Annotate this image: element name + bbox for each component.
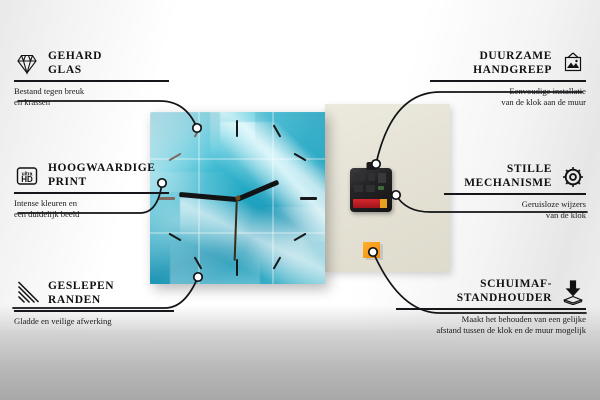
feature-title-line1: DUURZAME <box>479 50 552 62</box>
feature-desc-line2: afstand tussen de klok en de muur mogeli… <box>436 325 586 335</box>
feature-desc-line1: Gladde en veilige afwerking <box>14 316 112 326</box>
feature-title-line2: GLAS <box>48 64 82 76</box>
feature-duurzame-handgreep[interactable]: DUURZAME HANDGREEP Eenvoudige installati… <box>430 50 586 108</box>
feature-hoogwaardige-print[interactable]: ultra HD HOOGWAARDIGE PRINT Intense kleu… <box>14 162 169 220</box>
glass-wall-clock <box>150 112 325 284</box>
down-arrow-pad-icon <box>560 279 586 305</box>
feature-title-line2: RANDEN <box>48 294 101 306</box>
feature-title-line2: STANDHOUDER <box>457 292 552 304</box>
feature-geslepen-randen[interactable]: GESLEPEN RANDEN Gladde en veilige afwerk… <box>14 280 174 327</box>
feature-gehard-glas[interactable]: GEHARD GLAS Bestand tegen breuk en krass… <box>14 50 169 108</box>
feature-divider <box>14 80 169 82</box>
feature-desc-line2: van de klok <box>546 210 586 220</box>
feature-desc-line1: Intense kleuren en <box>14 198 77 208</box>
feature-desc-line1: Maakt het behouden van een gelijke <box>462 314 586 324</box>
feature-desc-line1: Bestand tegen breuk <box>14 86 84 96</box>
feature-title-line1: HOOGWAARDIGE <box>48 162 156 174</box>
feature-divider <box>396 308 586 310</box>
ultra-hd-icon: ultra HD <box>14 163 40 189</box>
svg-text:HD: HD <box>21 175 33 184</box>
clock-tick <box>300 197 317 200</box>
bevelled-edge-icon <box>14 281 40 307</box>
feature-title-line2: PRINT <box>48 176 87 188</box>
feature-desc-line2: van de klok aan de muur <box>501 97 586 107</box>
clock-hub <box>235 196 240 201</box>
clock-mechanism <box>350 168 392 212</box>
feature-divider <box>444 193 586 195</box>
feature-schuimafstandhouder[interactable]: SCHUIMAF- STANDHOUDER Maakt het behouden… <box>396 278 586 336</box>
battery <box>353 199 387 208</box>
clock-tick <box>236 259 238 276</box>
gear-icon <box>560 164 586 190</box>
product-infographic: GEHARD GLAS Bestand tegen breuk en krass… <box>0 0 600 400</box>
feature-title-line1: GESLEPEN <box>48 280 114 292</box>
foam-spacer <box>363 242 380 258</box>
clock-tick <box>236 120 238 137</box>
feature-divider <box>14 192 169 194</box>
feature-title-line2: HANDGREEP <box>473 64 552 76</box>
feature-title-line1: GEHARD <box>48 50 102 62</box>
diamond-icon <box>14 51 40 77</box>
feature-desc-line2: een duidelijk beeld <box>14 209 79 219</box>
feature-stille-mechanisme[interactable]: STILLE MECHANISME Geruisloze wijzers van… <box>444 163 586 221</box>
feature-desc-line1: Geruisloze wijzers <box>522 199 586 209</box>
feature-title-line1: SCHUIMAF- <box>480 278 552 290</box>
feature-title-line1: STILLE <box>507 163 552 175</box>
feature-divider <box>14 310 174 312</box>
feature-divider <box>430 80 586 82</box>
hanging-picture-icon <box>560 51 586 77</box>
feature-desc-line2: en krassen <box>14 97 50 107</box>
feature-desc-line1: Eenvoudige installatie <box>509 86 586 96</box>
feature-title-line2: MECHANISME <box>464 177 552 189</box>
